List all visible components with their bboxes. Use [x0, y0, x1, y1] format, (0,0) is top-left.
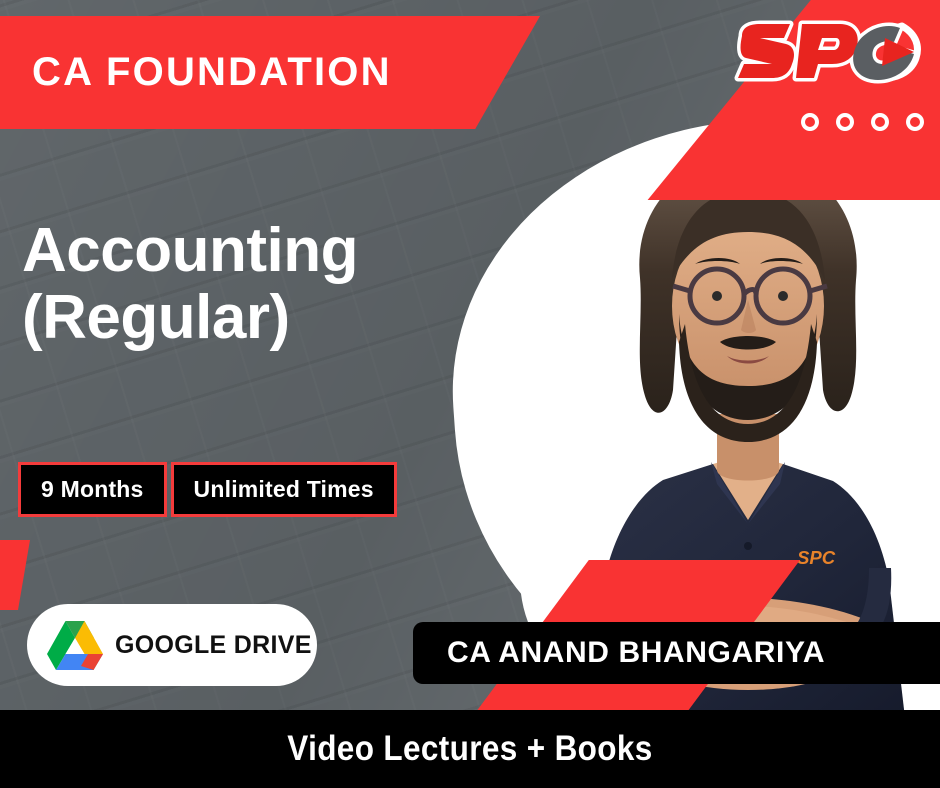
course-title-line2: (Regular): [22, 285, 452, 352]
footer-tagline-label: Video Lectures + Books: [287, 729, 652, 769]
dot-icon: [906, 113, 924, 131]
decorative-dots: [801, 113, 924, 131]
dot-icon: [801, 113, 819, 131]
course-title-line1: Accounting: [22, 216, 358, 285]
svg-text:SPC: SPC: [797, 547, 836, 568]
faculty-name-bar: CA ANAND BHANGARIYA: [413, 622, 940, 684]
delivery-mode-pill: GOOGLE DRIVE: [27, 604, 317, 686]
badge-views: Unlimited Times: [171, 462, 397, 517]
course-level-label: CA FOUNDATION: [0, 50, 392, 95]
dot-icon: [871, 113, 889, 131]
dot-icon: [836, 113, 854, 131]
course-title: Accounting (Regular): [22, 218, 452, 352]
course-level-banner: CA FOUNDATION: [0, 16, 540, 129]
course-poster: SPC: [0, 0, 940, 788]
spc-brand-logo: [730, 14, 925, 88]
feature-badges: 9 Months Unlimited Times: [18, 462, 397, 517]
google-drive-icon: [45, 618, 105, 672]
faculty-name-label: CA ANAND BHANGARIYA: [413, 636, 825, 670]
footer-tagline-bar: Video Lectures + Books: [0, 710, 940, 788]
badge-duration: 9 Months: [18, 462, 167, 517]
delivery-mode-label: GOOGLE DRIVE: [115, 631, 312, 660]
